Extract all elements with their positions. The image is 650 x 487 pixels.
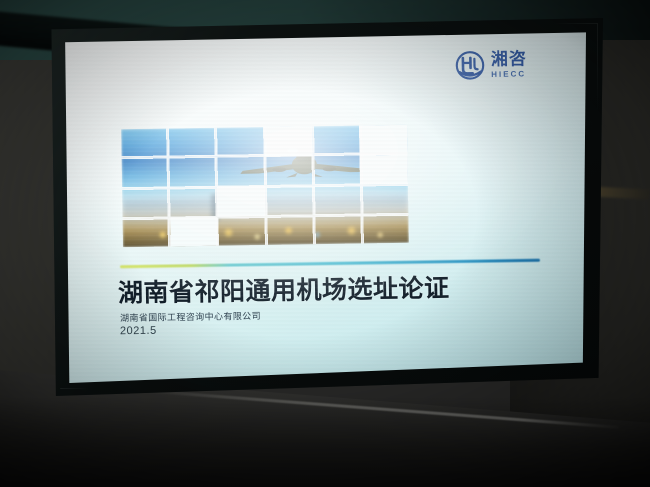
photo-scene: 湘咨 HIECC — [0, 0, 650, 487]
projector-glare — [62, 31, 586, 383]
room-lower-shadow — [0, 397, 650, 487]
projection-screen: 湘咨 HIECC — [62, 31, 586, 383]
